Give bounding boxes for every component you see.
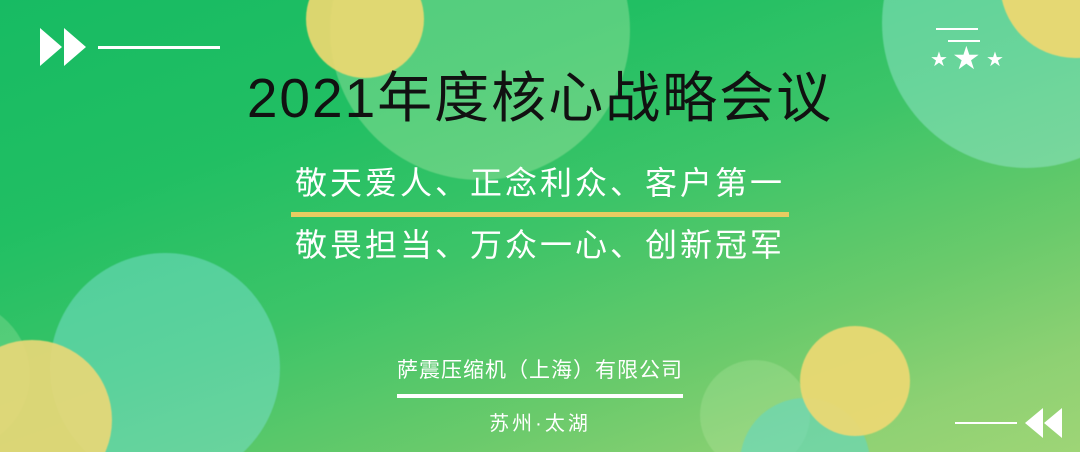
banner-content: 2021年度核心战略会议 敬天爱人、正念利众、客户第一 敬畏担当、万众一心、创新…: [0, 0, 1080, 452]
slogan-line-1: 敬天爱人、正念利众、客户第一: [295, 163, 785, 203]
conference-banner: ★ ★ ★ 2021年度核心战略会议 敬天爱人、正念利众、客户第一 敬畏担当、万…: [0, 0, 1080, 452]
company-name: 萨震压缩机（上海）有限公司: [397, 354, 683, 384]
slogan-line-2: 敬畏担当、万众一心、创新冠军: [295, 225, 785, 265]
footer-block: 萨震压缩机（上海）有限公司 苏州·太湖: [0, 354, 1080, 436]
event-location: 苏州·太湖: [489, 407, 591, 436]
slogan-block: 敬天爱人、正念利众、客户第一 敬畏担当、万众一心、创新冠军: [291, 163, 789, 265]
page-title: 2021年度核心战略会议: [247, 68, 833, 129]
footer-divider: [397, 394, 683, 398]
slogan-divider: [291, 212, 789, 217]
